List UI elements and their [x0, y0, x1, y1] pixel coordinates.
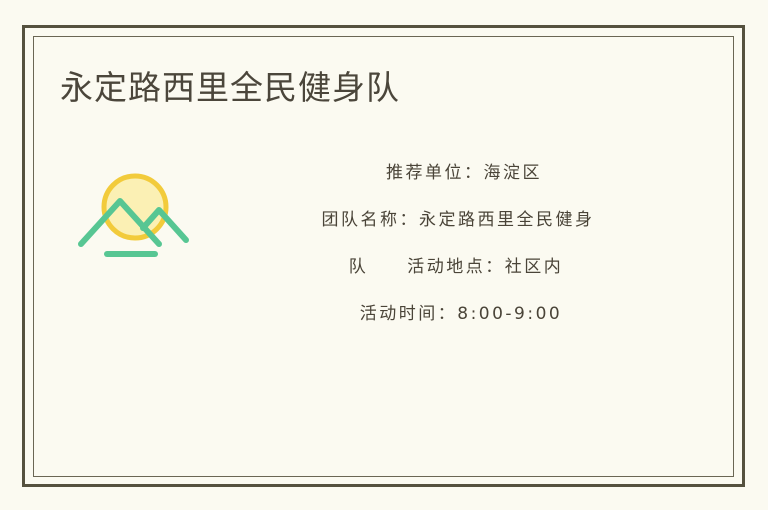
team-info-card: 永定路西里全民健身队 推荐单位：海淀区 团队名称：永定路西里全民健身 队 活动地…: [0, 0, 768, 510]
detail-line-time: 活动时间：8:00-9:00: [208, 291, 708, 338]
detail-line-team-name: 团队名称：永定路西里全民健身: [208, 197, 708, 244]
sun-over-mountains-icon: [73, 162, 203, 262]
team-details: 推荐单位：海淀区 团队名称：永定路西里全民健身 队 活动地点：社区内 活动时间：…: [208, 150, 708, 338]
detail-line-recommending-unit: 推荐单位：海淀区: [208, 150, 708, 197]
page-title: 永定路西里全民健身队: [60, 66, 400, 110]
card-content: 推荐单位：海淀区 团队名称：永定路西里全民健身 队 活动地点：社区内 活动时间：…: [33, 150, 734, 380]
detail-line-location: 队 活动地点：社区内: [208, 244, 708, 291]
